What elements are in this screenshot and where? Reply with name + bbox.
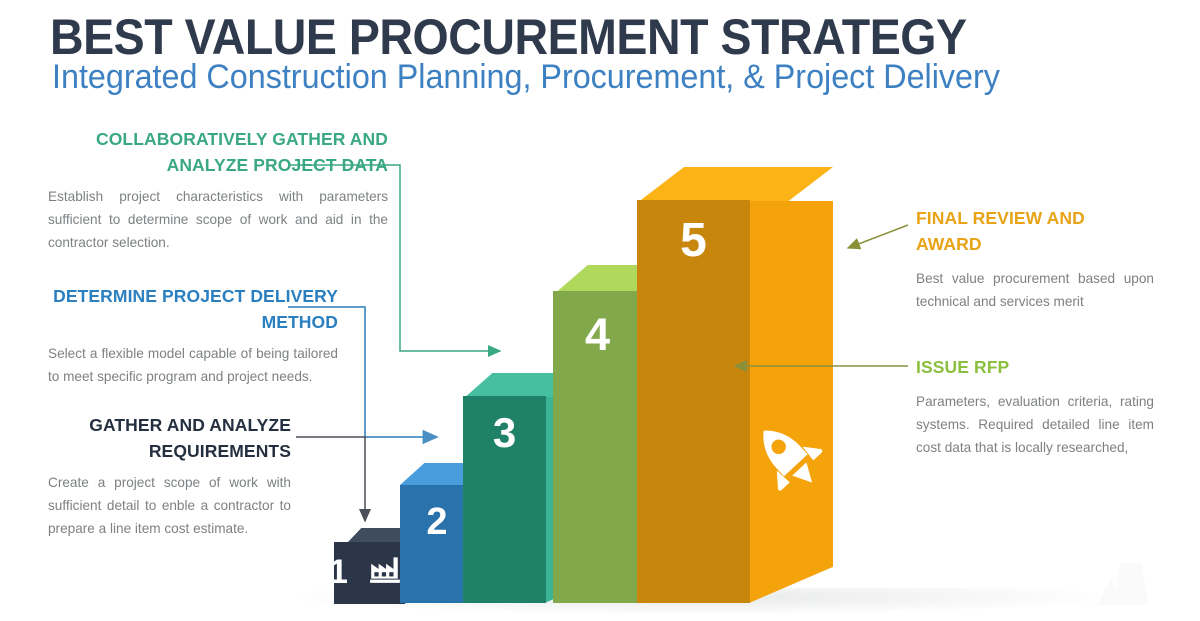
text-block-requirements: GATHER AND ANALYZE REQUIREMENTS Create a… [48, 412, 291, 540]
watermark-logo [1090, 553, 1186, 615]
text-block-issue-rfp: ISSUE RFP Parameters, evaluation criteri… [916, 354, 1154, 459]
body-requirements: Create a project scope of work with suff… [48, 471, 291, 540]
body-delivery-method: Select a flexible model capable of being… [48, 342, 338, 388]
bar-5-side-face [749, 201, 833, 603]
heading-final-review: FINAL REVIEW AND AWARD [916, 205, 1154, 257]
bar-5-top-face [637, 167, 833, 203]
heading-requirements: GATHER AND ANALYZE REQUIREMENTS [48, 412, 291, 464]
bar-1-number: 1 [303, 555, 374, 589]
heading-collaboratively: COLLABORATIVELY GATHER AND ANALYZE PROJE… [48, 126, 388, 178]
bar-5-number: 5 [637, 217, 750, 265]
body-final-review: Best value procurement based upon techni… [916, 267, 1154, 313]
text-block-delivery-method: DETERMINE PROJECT DELIVERY METHOD Select… [48, 283, 338, 388]
bar-step-5[interactable]: 5 [637, 167, 833, 603]
text-block-final-review: FINAL REVIEW AND AWARD Best value procur… [916, 205, 1154, 313]
heading-issue-rfp: ISSUE RFP [916, 354, 1154, 380]
body-issue-rfp: Parameters, evaluation criteria, rating … [916, 390, 1154, 459]
text-block-collaboratively: COLLABORATIVELY GATHER AND ANALYZE PROJE… [48, 126, 388, 254]
bar-4-number: 4 [553, 312, 642, 357]
factory-icon [366, 552, 404, 586]
heading-delivery-method: DETERMINE PROJECT DELIVERY METHOD [48, 283, 338, 335]
infographic-canvas: BEST VALUE PROCUREMENT STRATEGY Integrat… [0, 0, 1200, 621]
body-collaboratively: Establish project characteristics with p… [48, 185, 388, 254]
bar-3-number: 3 [463, 412, 546, 454]
rocket-icon [753, 412, 829, 508]
